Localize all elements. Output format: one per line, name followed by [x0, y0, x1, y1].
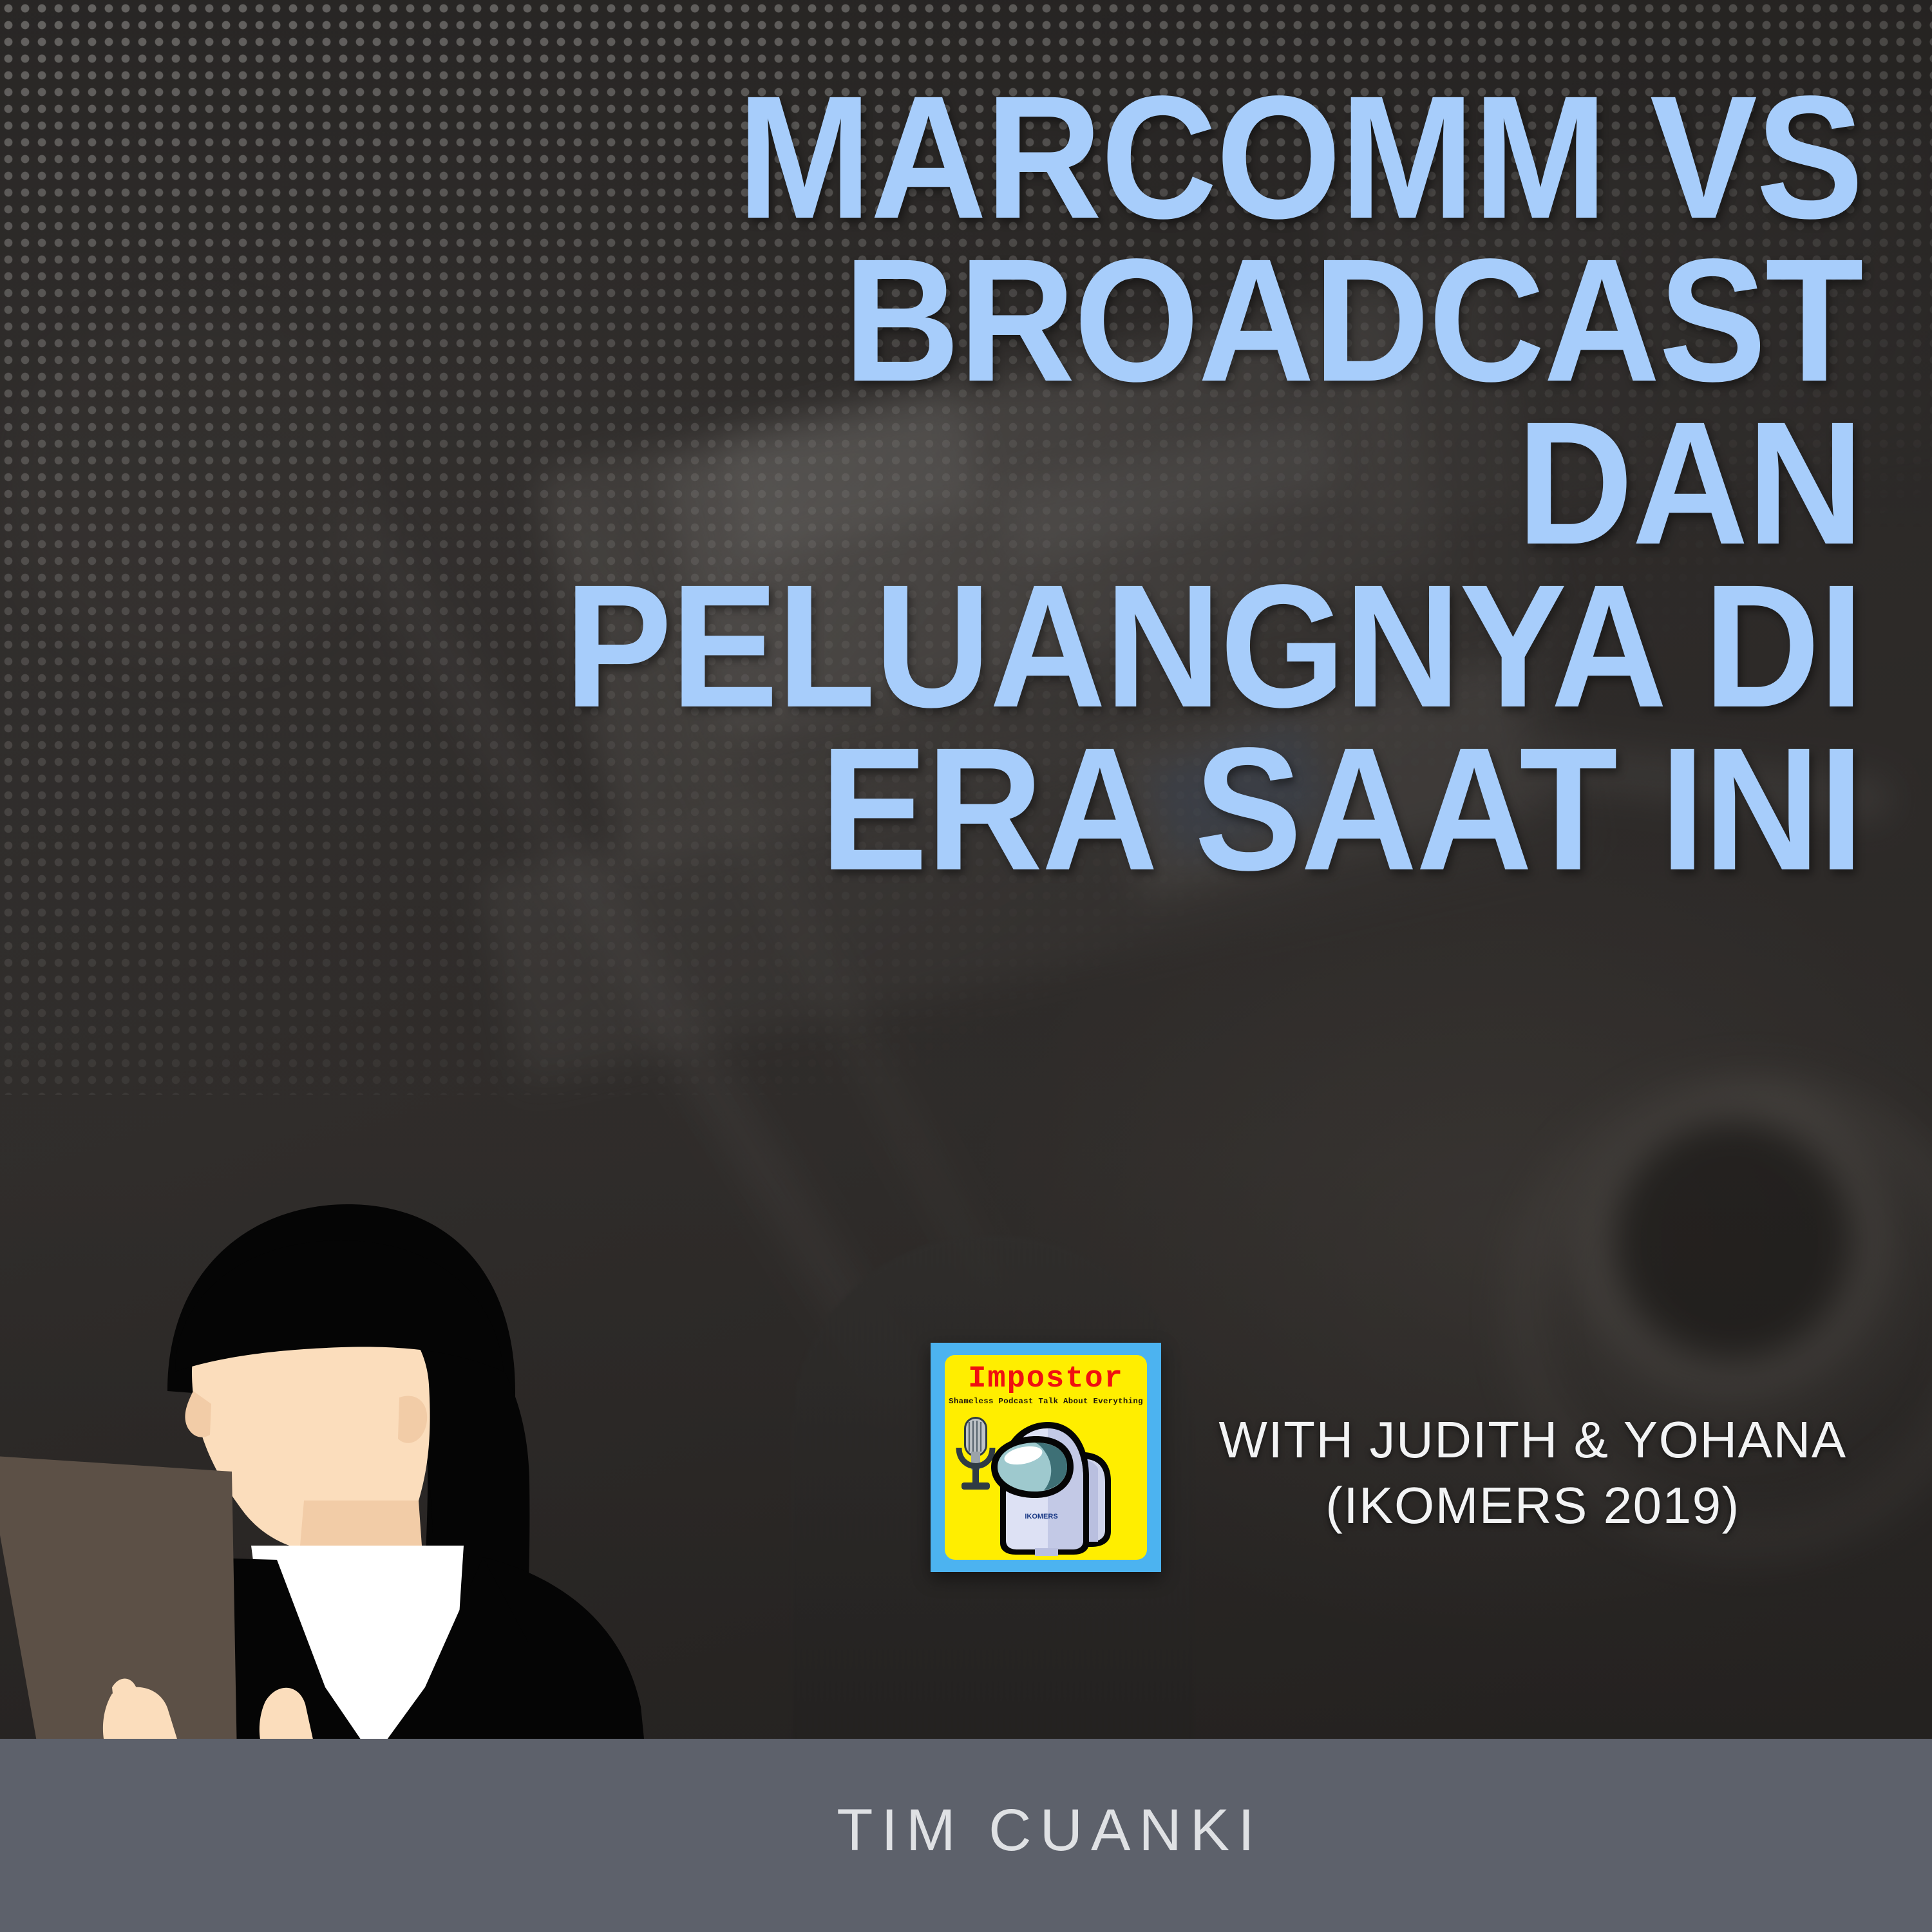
title-line-2: BROADCAST: [227, 239, 1862, 402]
title-line-4: PELUANGNYA DI: [227, 565, 1862, 728]
title-line-5: ERA SAAT INI: [227, 728, 1862, 891]
subtitle-line-1: WITH JUDITH & YOHANA: [1207, 1407, 1858, 1473]
podcast-logo-artwork: IKOMERS: [945, 1405, 1147, 1560]
microphone-icon: [959, 1417, 992, 1490]
podcast-logo-tagline: Shameless Podcast Talk About Everything: [945, 1397, 1147, 1405]
podcast-logo-title: Impostor: [945, 1364, 1147, 1394]
podcast-logo-inner: Impostor Shameless Podcast Talk About Ev…: [945, 1355, 1147, 1560]
crewmate-chest-label: IKOMERS: [1025, 1513, 1057, 1520]
title-line-1: MARCOMM VS: [227, 76, 1862, 239]
title-line-3: DAN: [227, 402, 1862, 565]
subtitle-line-2: (IKOMERS 2019): [1207, 1473, 1858, 1539]
poster-subtitle: WITH JUDITH & YOHANA (IKOMERS 2019): [1207, 1407, 1858, 1539]
footer-label: TIM CUANKI: [0, 1797, 1932, 1864]
podcast-logo[interactable]: Impostor Shameless Podcast Talk About Ev…: [931, 1343, 1161, 1572]
podcast-cover-poster: MARCOMM VS BROADCAST DAN PELUANGNYA DI E…: [0, 0, 1932, 1932]
poster-title: MARCOMM VS BROADCAST DAN PELUANGNYA DI E…: [85, 76, 1862, 891]
among-us-crewmate-icon: IKOMERS: [991, 1422, 1111, 1556]
